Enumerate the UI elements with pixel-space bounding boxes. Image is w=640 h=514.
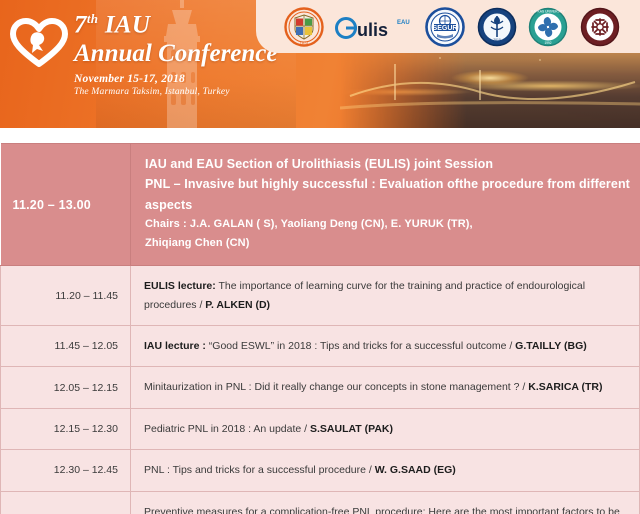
item-speaker: G.TAILLY (BG) — [515, 340, 587, 352]
session-chairs-line1: Chairs : J.A. GALAN ( S), Yaoliang Deng … — [145, 215, 632, 234]
conference-banner: 7th IAU Annual Conference November 15-17… — [0, 0, 640, 128]
item-body: PNL : Tips and tricks for a successful p… — [144, 464, 375, 476]
conference-title-block: 7th IAU Annual Conference November 15-17… — [74, 12, 278, 97]
schedule-item-rows: 11.20 – 11.45EULIS lecture: The importan… — [1, 266, 640, 514]
item-time: 11.20 – 11.45 — [1, 266, 131, 326]
medical-society-seal-logo-icon: 2010 — [477, 7, 517, 47]
item-description: Minitaurization in PNL : Did it really c… — [131, 367, 640, 408]
session-title-line2: PNL – Invasive but highly successful : E… — [145, 174, 632, 215]
session-time: 11.20 – 13.00 — [1, 144, 131, 266]
item-description: IAU lecture : “Good ESWL” in 2018 : Tips… — [131, 326, 640, 367]
segur-logo-icon: SEGUR — [425, 7, 465, 47]
item-speaker: W. G.SAAD (EG) — [375, 464, 456, 476]
item-description: EULIS lecture: The importance of learnin… — [131, 266, 640, 326]
item-speaker: P. ALKEN (D) — [205, 299, 270, 311]
item-time: 12.30 – 12.45 — [1, 450, 131, 491]
organization-abbr: IAU — [105, 11, 150, 38]
item-description: Preventive measures for a complication-f… — [131, 491, 640, 514]
item-body: Preventive measures for a complication-f… — [144, 506, 620, 514]
edition-number: 7 — [74, 11, 87, 38]
item-speaker: K.SARICA (TR) — [528, 381, 602, 393]
iau-shield-logo-icon: I A U — [284, 7, 324, 47]
item-lead: EULIS lecture: — [144, 280, 216, 292]
iau-heart-logo-icon — [10, 18, 68, 68]
item-time: 12.05 – 12.15 — [1, 367, 131, 408]
table-row: 12.15 – 12.30Pediatric PNL in 2018 : An … — [1, 408, 640, 449]
table-row: 11.20 – 11.45EULIS lecture: The importan… — [1, 266, 640, 326]
item-description: Pediatric PNL in 2018 : An update / S.SA… — [131, 408, 640, 449]
table-row: 11.45 – 12.05IAU lecture : “Good ESWL” i… — [1, 326, 640, 367]
kafkas-university-logo-icon: KAFKAS UNIVERSITY 1992 — [528, 7, 568, 47]
session-title-cell: IAU and EAU Section of Urolithiasis (EUL… — [131, 144, 640, 266]
item-time: 11.45 – 12.05 — [1, 326, 131, 367]
schedule-table-container: 11.20 – 13.00 IAU and EAU Section of Uro… — [0, 143, 640, 514]
conference-edition-line: 7th IAU — [74, 12, 278, 39]
edition-suffix: th — [87, 11, 98, 26]
item-body: “Good ESWL” in 2018 : Tips and tricks fo… — [206, 340, 515, 352]
sponsor-logo-strip: I A U ulis EAU SEGUR — [256, 0, 640, 53]
session-chairs-line2: Zhiqiang Chen (CN) — [145, 234, 632, 253]
table-row: 12.05 – 12.15Minitaurization in PNL : Di… — [1, 367, 640, 408]
svg-text:SEGUR: SEGUR — [433, 25, 458, 32]
item-lead: IAU lecture : — [144, 340, 206, 352]
item-description: PNL : Tips and tricks for a successful p… — [131, 450, 640, 491]
svg-text:2010: 2010 — [493, 38, 501, 42]
svg-text:EAU: EAU — [397, 20, 410, 26]
session-header-row: 11.20 – 13.00 IAU and EAU Section of Uro… — [1, 144, 640, 266]
programme-page: 7th IAU Annual Conference November 15-17… — [0, 0, 640, 514]
svg-text:KAFKAS UNIVERSITY: KAFKAS UNIVERSITY — [532, 9, 567, 13]
conference-dates: November 15-17, 2018 — [74, 73, 278, 85]
item-speaker: S.SAULAT (PAK) — [310, 423, 393, 435]
table-row: 12:45 – 13:00Preventive measures for a c… — [1, 491, 640, 514]
svg-text:1992: 1992 — [545, 41, 552, 45]
eulis-logo-icon: ulis EAU — [335, 13, 413, 41]
svg-text:I A U: I A U — [300, 40, 309, 45]
svg-text:ulis: ulis — [357, 20, 388, 40]
schedule-table: 11.20 – 13.00 IAU and EAU Section of Uro… — [0, 143, 640, 514]
item-time: 12:45 – 13:00 — [1, 491, 131, 514]
maroon-seal-logo-icon — [580, 7, 620, 47]
item-body: Minitaurization in PNL : Did it really c… — [144, 381, 528, 393]
item-time: 12.15 – 12.30 — [1, 408, 131, 449]
table-row: 12.30 – 12.45PNL : Tips and tricks for a… — [1, 450, 640, 491]
item-body: Pediatric PNL in 2018 : An update / — [144, 423, 310, 435]
session-title-line1: IAU and EAU Section of Urolithiasis (EUL… — [145, 154, 632, 174]
conference-venue: The Marmara Taksim, Istanbul, Turkey — [74, 87, 278, 97]
conference-title: Annual Conference — [74, 39, 278, 69]
